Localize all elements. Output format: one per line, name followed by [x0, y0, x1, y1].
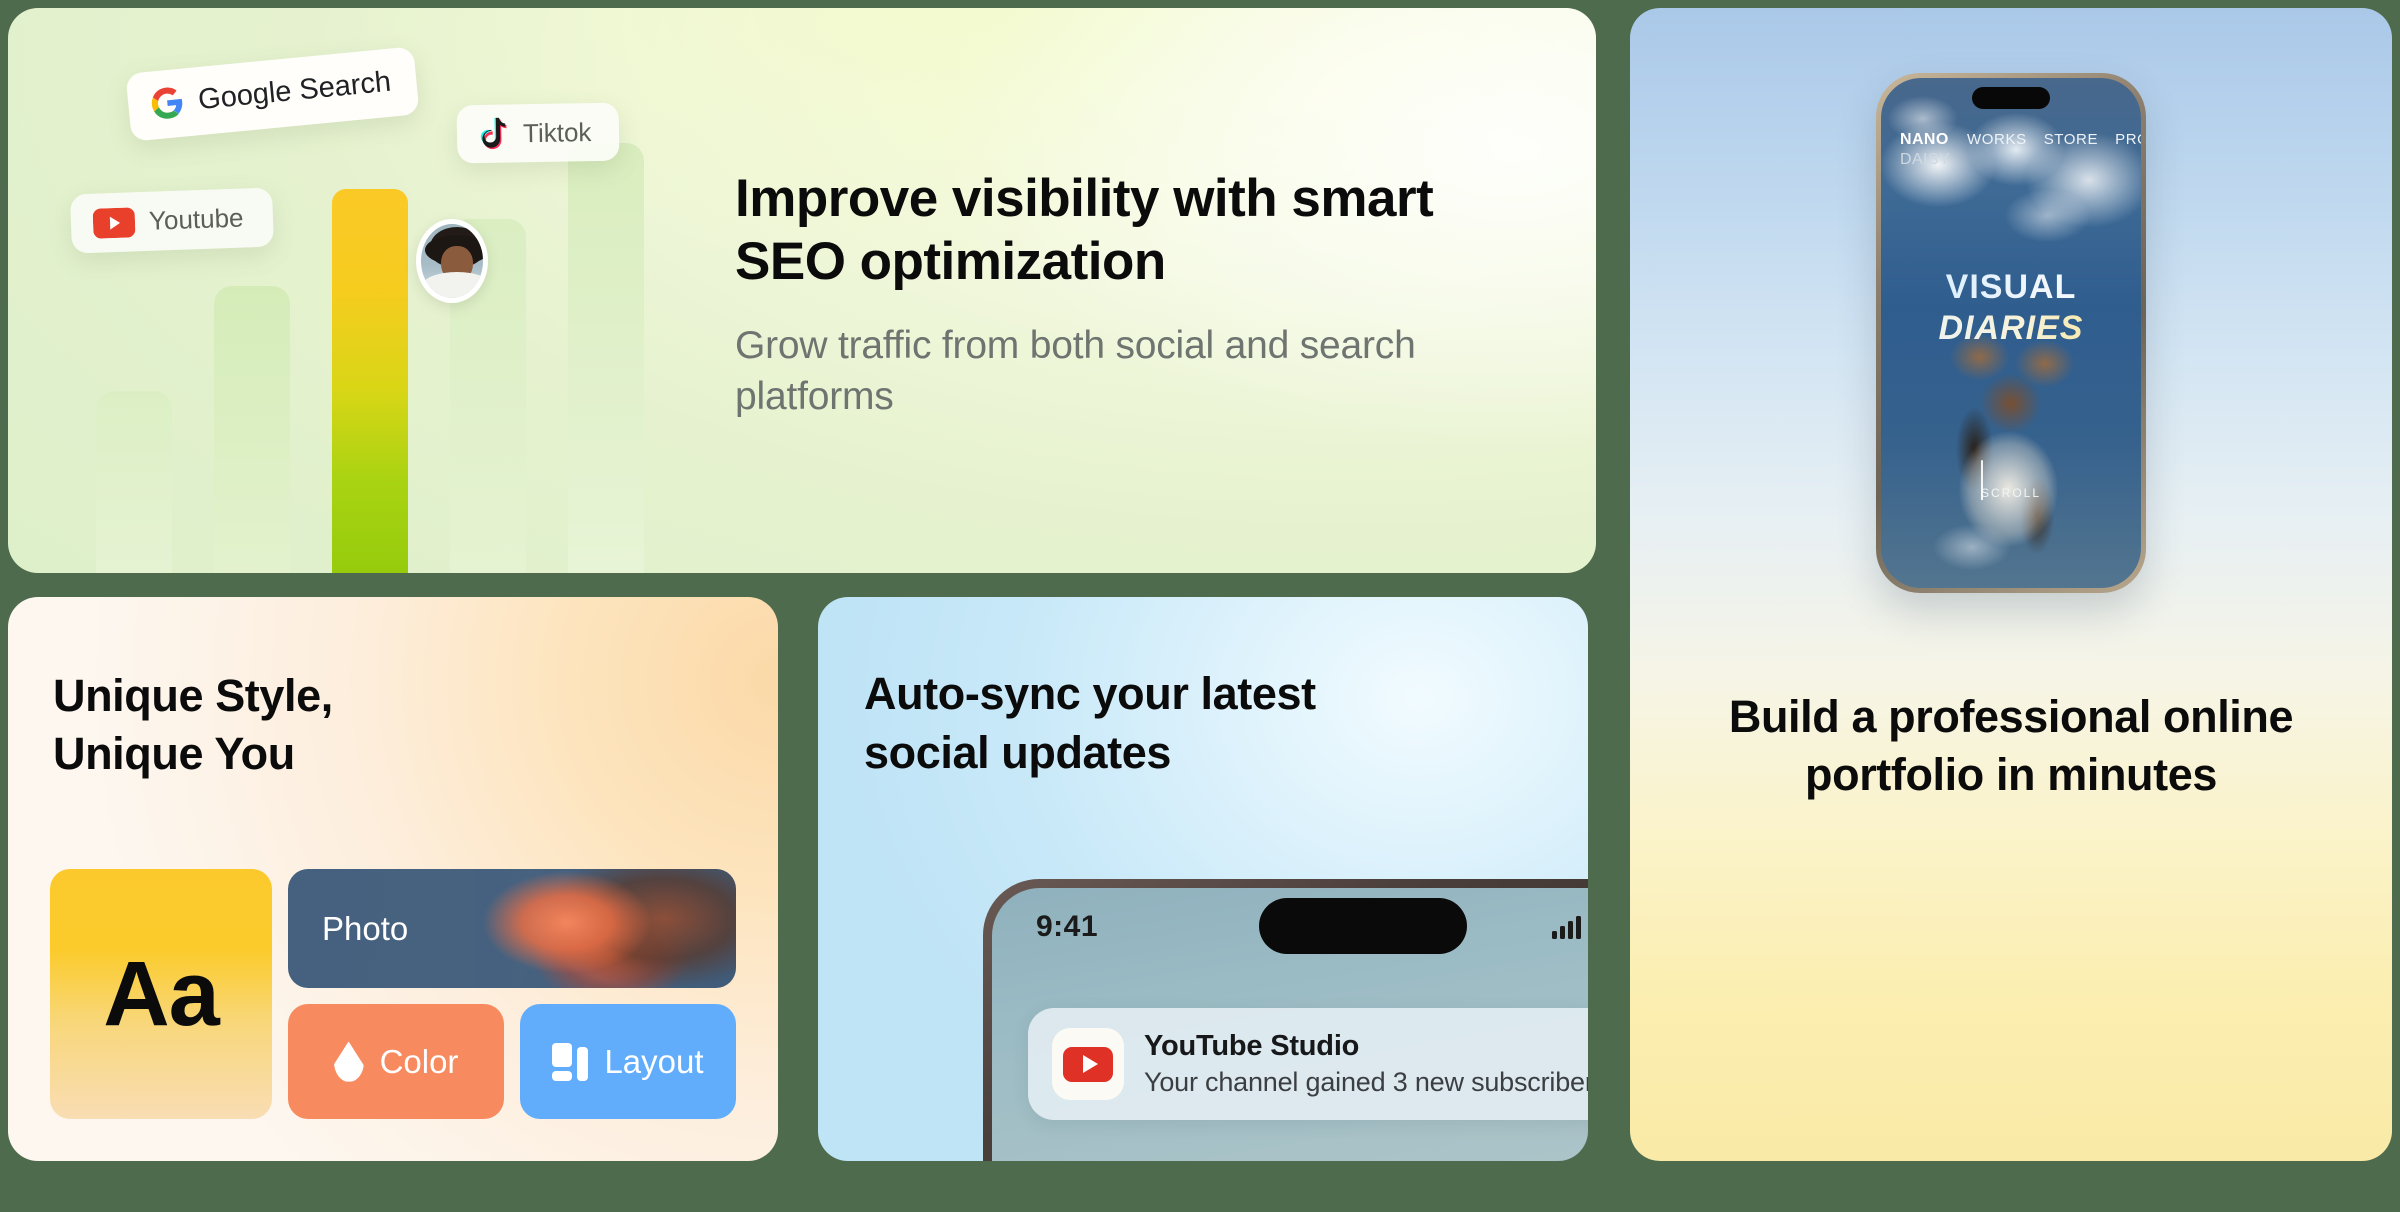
bar-1	[96, 391, 172, 573]
portfolio-brand-line1: NANO	[1900, 131, 1949, 148]
nav-item-store[interactable]: STORE	[2044, 130, 2098, 148]
card-portfolio: NANO DAISY WORKS STORE PROFILE VISUAL DI…	[1630, 8, 2392, 1161]
card-seo-optimization: Google Search Tiktok Youtube Improve vis…	[8, 8, 1596, 573]
hero-line2: DIARIES	[1881, 309, 2141, 348]
style-title-line1: Unique Style,	[53, 667, 333, 725]
phone-mockup-portfolio: NANO DAISY WORKS STORE PROFILE VISUAL DI…	[1876, 73, 2146, 593]
tile-photo[interactable]: Photo	[288, 869, 736, 988]
tile-color-label: Color	[380, 1043, 459, 1081]
tile-photo-thumbnail	[476, 869, 736, 988]
badge-youtube-label: Youtube	[148, 203, 244, 237]
tile-typography[interactable]: Aa	[50, 869, 272, 1119]
cellular-icon	[1552, 915, 1586, 939]
portfolio-hero: VISUAL DIARIES	[1881, 268, 2141, 348]
nav-item-profile[interactable]: PROFILE	[2115, 130, 2141, 148]
portfolio-brand-line2: DAISY	[1900, 151, 1950, 168]
status-clock: 9:41	[1036, 910, 1098, 944]
style-tiles: Aa Photo Color	[50, 869, 736, 1119]
portfolio-caption-line1: Build a professional online	[1630, 688, 2392, 746]
bar-5	[568, 143, 644, 573]
phone-mockup-sync: 9:41	[983, 879, 1588, 1161]
portfolio-caption: Build a professional online portfolio in…	[1630, 688, 2392, 803]
style-tiles-row: Color Layout	[288, 1004, 736, 1119]
portfolio-brand[interactable]: NANO DAISY	[1900, 130, 1950, 170]
notification-text: YouTube Studio Your channel gained 3 new…	[1144, 1030, 1588, 1098]
badge-tiktok-label: Tiktok	[523, 117, 592, 149]
dynamic-island	[1972, 87, 2050, 109]
portfolio-nav: NANO DAISY WORKS STORE PROFILE	[1900, 130, 2127, 170]
hero-line1: VISUAL	[1881, 268, 2141, 307]
tile-layout-label: Layout	[604, 1043, 703, 1081]
layout-icon	[552, 1043, 588, 1081]
notification-app-name: YouTube Studio	[1144, 1030, 1588, 1063]
style-title: Unique Style, Unique You	[53, 667, 333, 782]
droplet-icon	[334, 1042, 364, 1082]
portfolio-caption-line2: portfolio in minutes	[1630, 746, 2392, 804]
status-bar: 9:41	[992, 902, 1588, 952]
seo-title: Improve visibility with smart SEO optimi…	[735, 168, 1525, 293]
badge-youtube[interactable]: Youtube	[70, 187, 274, 253]
card-unique-style: Unique Style, Unique You Aa Photo Color	[8, 597, 778, 1161]
bar-2	[214, 286, 290, 573]
promo-grid: Google Search Tiktok Youtube Improve vis…	[0, 0, 2400, 1212]
seo-subtitle: Grow traffic from both social and search…	[735, 321, 1525, 422]
avatar-shirt	[423, 272, 488, 298]
bar-3-highlighted	[332, 189, 408, 573]
badge-google-search-label: Google Search	[197, 65, 393, 116]
tile-color[interactable]: Color	[288, 1004, 504, 1119]
notification-message: Your channel gained 3 new subscribers	[1144, 1067, 1588, 1098]
sync-title-line1: Auto-sync your latest	[864, 665, 1316, 724]
notification-app-icon	[1052, 1028, 1124, 1100]
phone-screen-portfolio: NANO DAISY WORKS STORE PROFILE VISUAL DI…	[1881, 78, 2141, 588]
notification-card[interactable]: YouTube Studio Your channel gained 3 new…	[1028, 1008, 1588, 1120]
tile-photo-label: Photo	[322, 910, 408, 948]
badge-tiktok[interactable]: Tiktok	[457, 103, 620, 164]
nav-item-works[interactable]: WORKS	[1967, 130, 2027, 148]
scroll-indicator[interactable]: SCROLL	[1981, 486, 2041, 500]
scroll-line	[1981, 460, 1983, 500]
sync-title: Auto-sync your latest social updates	[864, 665, 1316, 782]
badge-google-search[interactable]: Google Search	[125, 46, 420, 141]
tiktok-icon	[479, 118, 510, 151]
card-auto-sync: Auto-sync your latest social updates 9:4…	[818, 597, 1588, 1161]
avatar	[416, 219, 488, 303]
scroll-label: SCROLL	[1981, 486, 2041, 500]
sync-title-line2: social updates	[864, 724, 1316, 783]
style-tiles-right: Photo Color Layout	[288, 869, 736, 1119]
phone-screen-sync: 9:41	[992, 888, 1588, 1161]
tile-layout[interactable]: Layout	[520, 1004, 736, 1119]
google-icon	[149, 85, 186, 122]
youtube-icon	[93, 207, 136, 238]
youtube-icon	[1063, 1047, 1113, 1082]
seo-copy-block: Improve visibility with smart SEO optimi…	[735, 168, 1525, 422]
style-title-line2: Unique You	[53, 725, 333, 783]
status-icons	[1552, 915, 1588, 939]
